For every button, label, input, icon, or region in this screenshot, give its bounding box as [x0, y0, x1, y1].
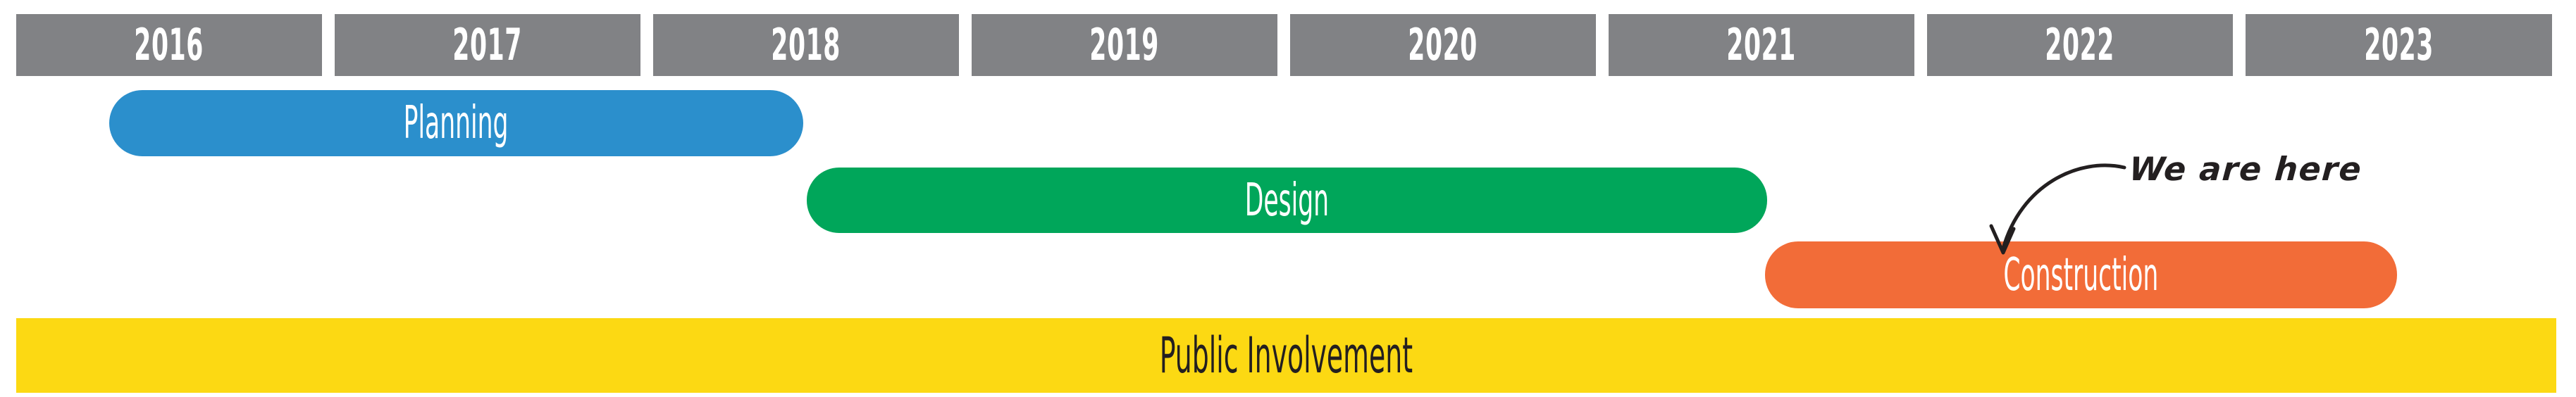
curved-arrow-icon — [1945, 137, 2410, 257]
year-label: 2019 — [1090, 23, 1160, 67]
phase-bar-planning: Planning — [109, 90, 803, 156]
year-label: 2017 — [453, 23, 523, 67]
we-are-here-annotation: We are here — [1945, 137, 2410, 257]
phase-label-planning: Planning — [404, 101, 509, 146]
phase-bar-design: Design — [807, 168, 1767, 233]
year-cell-2017: 2017 — [335, 14, 640, 76]
phase-label-construction: Construction — [2004, 253, 2159, 298]
year-label: 2016 — [135, 23, 204, 67]
we-are-here-label: We are here — [2128, 150, 2363, 188]
year-cell-2019: 2019 — [972, 14, 1277, 76]
phase-label-design: Design — [1245, 178, 1329, 223]
year-cell-2023: 2023 — [2246, 14, 2552, 76]
year-label: 2020 — [1408, 23, 1478, 67]
year-cell-2020: 2020 — [1290, 14, 1596, 76]
phase-label-public-involvement: Public Involvement — [1160, 331, 1413, 380]
year-cell-2016: 2016 — [16, 14, 322, 76]
phase-bar-public-involvement: Public Involvement — [16, 318, 2556, 393]
year-label: 2021 — [1727, 23, 1797, 67]
year-label: 2022 — [2045, 23, 2115, 67]
year-label: 2023 — [2364, 23, 2434, 67]
year-cell-2018: 2018 — [653, 14, 959, 76]
project-timeline-chart: 2016 2017 2018 2019 2020 2021 2022 2023 … — [0, 0, 2576, 397]
year-axis-header: 2016 2017 2018 2019 2020 2021 2022 2023 — [16, 14, 2558, 76]
year-cell-2022: 2022 — [1927, 14, 2233, 76]
phase-bar-construction: Construction — [1765, 241, 2397, 308]
year-cell-2021: 2021 — [1609, 14, 1914, 76]
year-label: 2018 — [772, 23, 841, 67]
